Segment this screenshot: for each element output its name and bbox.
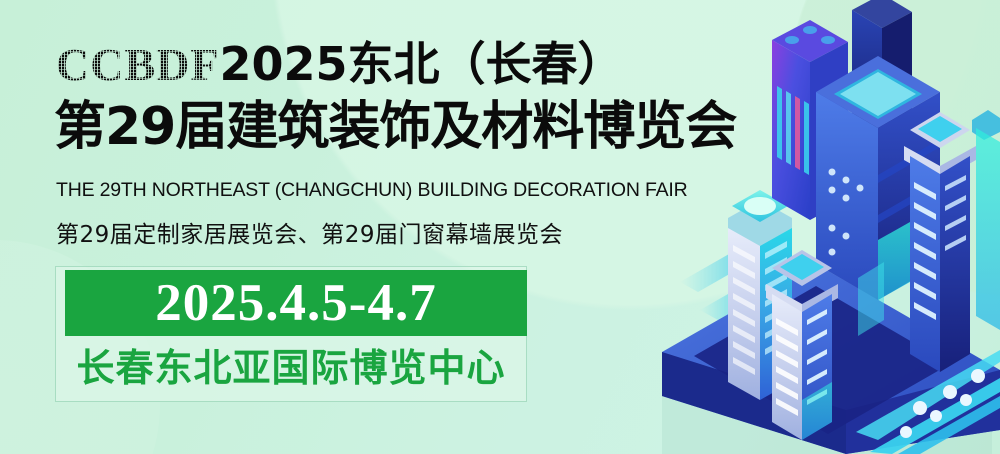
isometric-city-illustration (620, 0, 1000, 454)
subtitle-chinese: 第29届定制家居展览会、第29届门窗幕墙展览会 (56, 215, 563, 249)
title-line-one-suffix: 2025东北（长春） (219, 37, 623, 91)
title-line-one: CCBDF2025东北（长春） (56, 41, 623, 88)
text-column: CCBDF2025东北（长春） 第29届建筑装饰及材料博览会 THE 29TH … (0, 0, 620, 454)
subtitle-english: THE 29TH NORTHEAST (CHANGCHUN) BUILDING … (56, 179, 687, 202)
ccbdf-logo-text: CCBDF (56, 39, 219, 90)
exhibition-banner: CCBDF2025东北（长春） 第29届建筑装饰及材料博览会 THE 29TH … (0, 0, 1000, 454)
tower-far-right (972, 110, 1000, 330)
event-dates: 2025.4.5-4.7 (65, 270, 527, 336)
event-venue: 长春东北亚国际博览中心 (55, 336, 527, 400)
